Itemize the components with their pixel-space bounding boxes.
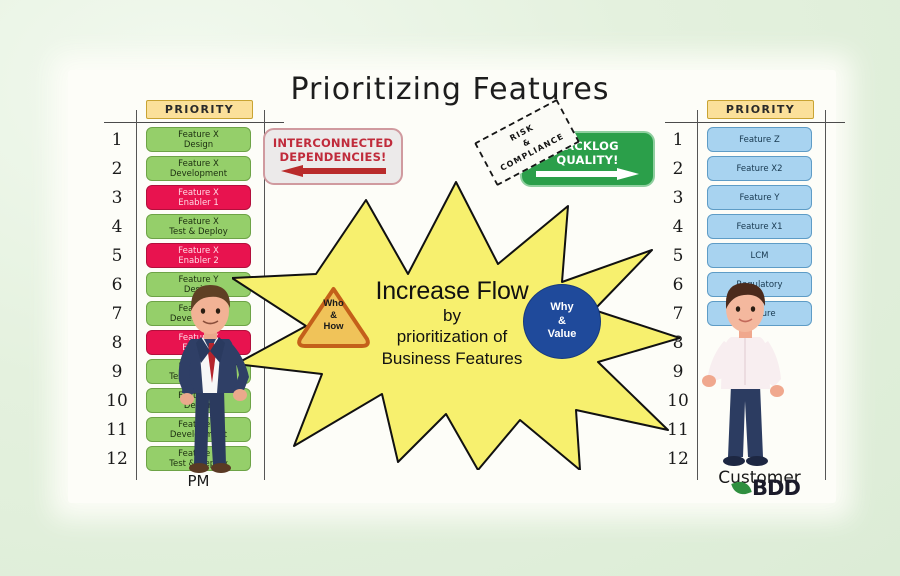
feature-card-line-2: Enabler 2 xyxy=(178,256,219,266)
feature-card-line-1: Feature X xyxy=(178,246,219,256)
feature-card-line-1: Feature X xyxy=(178,130,219,140)
priority-number: 3 xyxy=(104,188,130,208)
priority-number: 12 xyxy=(104,449,130,469)
feature-card-line-1: LCM xyxy=(750,251,768,261)
who-and-how-label: Who & How xyxy=(295,298,372,333)
slide-canvas: Prioritizing Features PRIORITY 1Feature … xyxy=(0,0,900,576)
left-column-top-rule xyxy=(104,122,284,123)
who-line-2: & xyxy=(330,310,337,321)
priority-number: 1 xyxy=(665,130,691,150)
left-banner-line-1: INTERCONNECTED xyxy=(273,136,393,150)
pm-avatar xyxy=(163,281,258,481)
leaf-icon xyxy=(731,479,751,498)
right-banner-line-2: QUALITY! xyxy=(556,153,618,167)
feature-card-line-2: Enabler 1 xyxy=(178,198,219,208)
feature-card-line-1: Feature X2 xyxy=(736,164,782,174)
feature-card-line-1: Feature Z xyxy=(739,135,780,145)
priority-number: 1 xyxy=(104,130,130,150)
priority-row: 2Feature X2 xyxy=(665,155,845,184)
arrow-right-icon xyxy=(536,167,639,179)
who-line-3: How xyxy=(323,321,343,332)
feature-card-line-2: Test & Deploy xyxy=(169,227,228,237)
priority-row: 4Feature X1 xyxy=(665,213,845,242)
priority-row: 5LCM xyxy=(665,242,845,271)
why-line-2: & xyxy=(558,315,566,327)
priority-number: 8 xyxy=(104,333,130,353)
feature-card[interactable]: Feature X1 xyxy=(707,214,812,239)
left-priority-header: PRIORITY xyxy=(146,100,253,119)
priority-number: 7 xyxy=(104,304,130,324)
bdd-logo-text: BDD xyxy=(752,478,800,499)
customer-avatar xyxy=(700,281,792,477)
priority-number: 2 xyxy=(104,159,130,179)
arrow-left-icon xyxy=(281,164,386,176)
feature-card-line-1: Feature X xyxy=(178,217,219,227)
feature-card[interactable]: Feature Z xyxy=(707,127,812,152)
feature-card[interactable]: Feature XDesign xyxy=(146,127,251,152)
why-and-value-circle: Why & Value xyxy=(523,284,601,359)
feature-card[interactable]: Feature X2 xyxy=(707,156,812,181)
who-line-1: Who xyxy=(323,298,344,309)
priority-row: 1Feature Z xyxy=(665,126,845,155)
feature-card-line-2: Design xyxy=(184,140,213,150)
priority-row: 1Feature XDesign xyxy=(104,126,284,155)
feature-card[interactable]: LCM xyxy=(707,243,812,268)
feature-card-line-1: Feature X1 xyxy=(736,222,782,232)
right-column-top-rule xyxy=(665,122,845,123)
why-line-3: Value xyxy=(548,328,577,340)
feature-card[interactable]: Feature Y xyxy=(707,185,812,210)
priority-number: 2 xyxy=(665,159,691,179)
priority-row: 3Feature Y xyxy=(665,184,845,213)
priority-number: 10 xyxy=(104,391,130,411)
feature-card-line-1: Feature X xyxy=(178,159,219,169)
right-priority-header: PRIORITY xyxy=(707,100,814,119)
why-line-1: Why xyxy=(550,301,573,313)
bdd-logo: BDD xyxy=(733,476,829,500)
feature-card-line-2: Development xyxy=(170,169,227,179)
priority-number: 11 xyxy=(104,420,130,440)
priority-number: 4 xyxy=(104,217,130,237)
priority-number: 5 xyxy=(104,246,130,266)
interconnected-dependencies-banner: INTERCONNECTED DEPENDENCIES! xyxy=(263,128,403,185)
why-and-value-label: Why & Value xyxy=(548,301,577,342)
feature-card-line-1: Feature X xyxy=(178,188,219,198)
feature-card-line-1: Feature Y xyxy=(739,193,779,203)
priority-number: 9 xyxy=(104,362,130,382)
priority-number: 6 xyxy=(104,275,130,295)
left-banner-line-2: DEPENDENCIES! xyxy=(279,150,386,164)
